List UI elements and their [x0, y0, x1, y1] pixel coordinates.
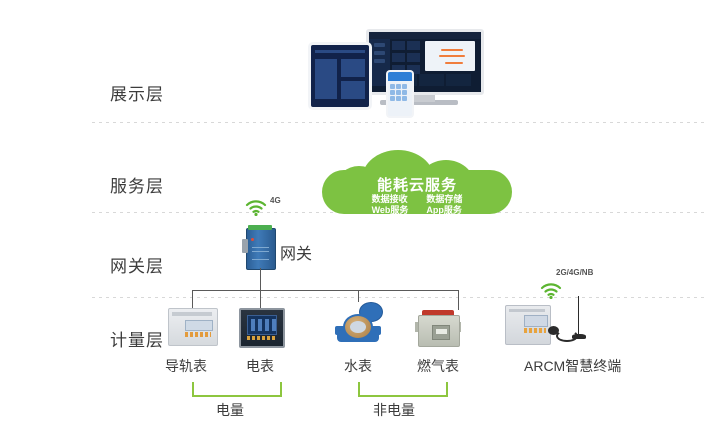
- gas-meter-label: 燃气表: [417, 356, 459, 376]
- divider-display-service: [92, 122, 708, 123]
- divider-gateway-metering: [92, 297, 708, 298]
- gas-meter-icon: [418, 310, 458, 350]
- gateway-device-icon: [246, 228, 276, 270]
- panel-meter-icon: [239, 308, 285, 348]
- cloud-column-storage: 数据存储 App服务: [426, 194, 462, 216]
- gateway-bus-line: [192, 290, 458, 291]
- bracket-non-electric: [358, 382, 448, 397]
- layer-label-metering: 计量层: [110, 326, 164, 351]
- bracket-label-non-electric: 非电量: [373, 400, 415, 420]
- arcm-terminal-device-icon: [505, 305, 551, 345]
- gateway-label: 网关: [280, 240, 312, 264]
- branch-line-din: [192, 290, 193, 308]
- branch-line-electric: [260, 290, 261, 308]
- wifi-signal-icon: [540, 283, 562, 299]
- energy-cloud-service: 能耗云服务 数据接收 Web服务 数据存储 App服务: [322, 148, 512, 214]
- terminal-network-tag: 2G/4G/NB: [556, 268, 593, 277]
- smartphone-icon: [386, 70, 414, 118]
- cloud-title: 能耗云服务: [322, 174, 512, 195]
- arcm-terminal-label: ARCM智慧终端: [524, 356, 621, 376]
- bracket-electric: [192, 382, 282, 397]
- layer-label-gateway: 网关层: [110, 252, 164, 277]
- layer-label-display: 展示层: [110, 80, 164, 105]
- layer-label-service: 服务层: [110, 172, 164, 197]
- display-layer-devices: [308, 12, 536, 112]
- gateway-network-tag: 4G: [270, 196, 281, 205]
- diagram-canvas: 展示层 服务层 网关层 计量层: [0, 0, 715, 443]
- gateway-trunk-line: [260, 268, 261, 290]
- bracket-label-electric: 电量: [216, 400, 244, 420]
- branch-line-water: [358, 290, 359, 302]
- cloud-column-receive: 数据接收 Web服务: [372, 194, 409, 216]
- branch-line-gas: [458, 290, 459, 310]
- wifi-signal-icon: [245, 200, 267, 216]
- din-rail-meter-icon: [168, 308, 218, 346]
- desktop-monitor-icon: [366, 29, 484, 95]
- tablet-icon: [308, 42, 372, 110]
- din-rail-meter-label: 导轨表: [165, 356, 207, 376]
- water-meter-icon: [335, 302, 381, 346]
- water-meter-label: 水表: [344, 356, 372, 376]
- electric-meter-label: 电表: [246, 356, 274, 376]
